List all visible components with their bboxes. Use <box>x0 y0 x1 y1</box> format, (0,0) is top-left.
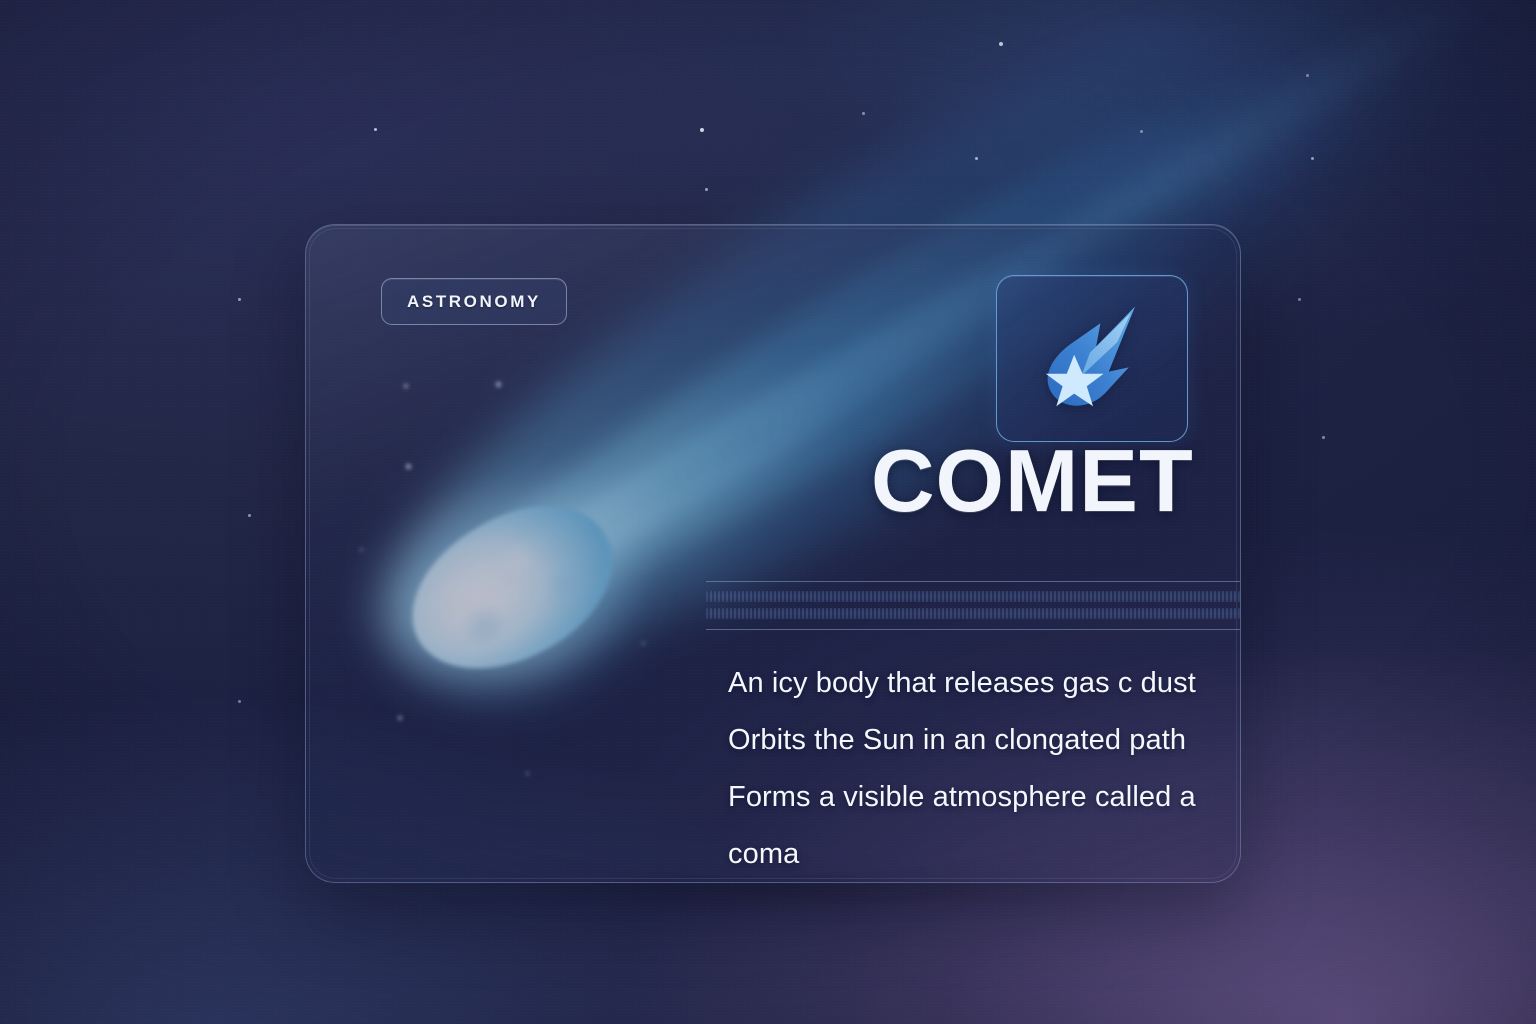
vignette-overlay <box>0 0 1536 1024</box>
screenshot-canvas: ASTRONOMY <box>0 0 1536 1024</box>
